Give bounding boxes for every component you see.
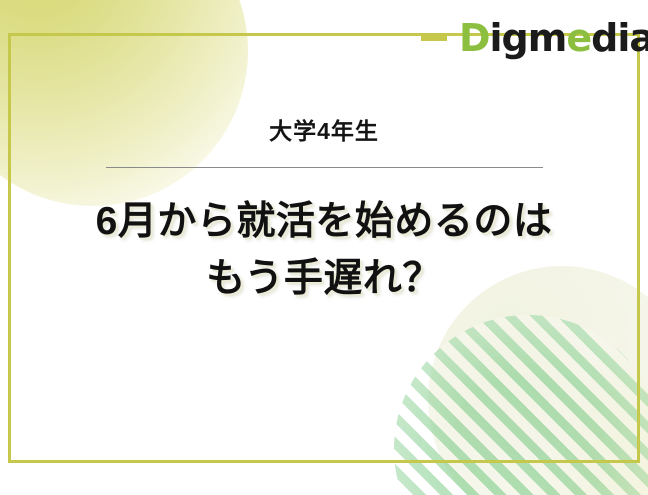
bottom-right-striped-circle-decoration: [394, 315, 648, 495]
logo-segment-dia: dia: [591, 16, 648, 60]
content-block: 大学4年生 6月から就活を始めるのは もう手遅れ？: [0, 118, 648, 307]
eyebrow-label: 大学4年生: [0, 118, 648, 146]
logo-dash-icon: [421, 35, 447, 41]
thumbnail-canvas: Digmedia 大学4年生 6月から就活を始めるのは もう手遅れ？: [0, 0, 648, 495]
logo-wordmark: Digmedia: [459, 19, 648, 57]
headline-line-1: 6月から就活を始めるのは: [0, 194, 648, 251]
logo-segment-d: D: [459, 16, 490, 60]
brand-logo: Digmedia: [421, 19, 648, 57]
title-divider: [106, 167, 543, 168]
headline-line-2: もう手遅れ？: [0, 251, 648, 308]
logo-segment-e: e: [566, 16, 591, 60]
logo-segment-igm: igm: [490, 16, 567, 60]
page-title: 6月から就活を始めるのは もう手遅れ？: [0, 194, 648, 308]
